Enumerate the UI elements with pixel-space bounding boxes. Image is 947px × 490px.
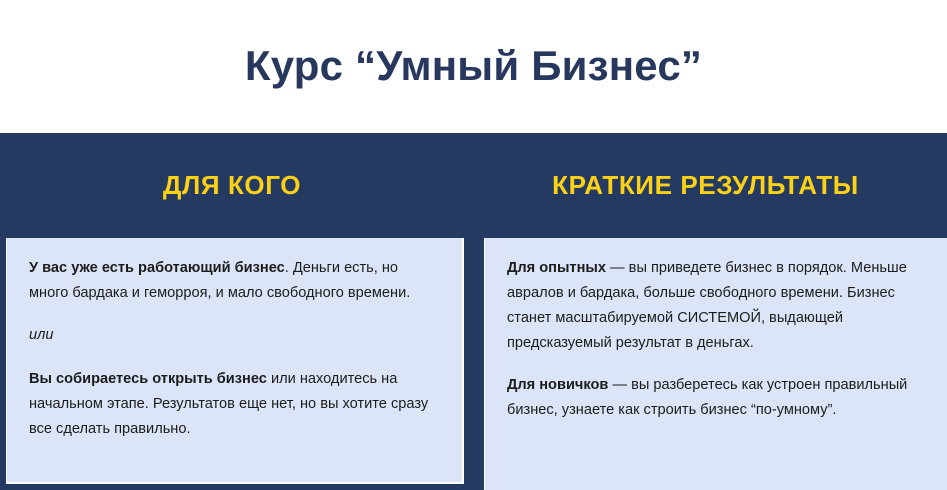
card-for-whom: У вас уже есть работающий бизнес. Деньги… [6,238,464,484]
paragraph-starting-business: Вы собираетесь открыть бизнес или находи… [29,367,438,442]
paragraph-for-experienced: Для опытных — вы приведете бизнес в поря… [507,256,923,356]
paragraph-existing-business: У вас уже есть работающий бизнес. Деньги… [29,256,438,306]
column-heading-short-results: КРАТКИЕ РЕЗУЛЬТАТЫ [464,133,947,238]
paragraph-lead: У вас уже есть работающий бизнес [29,260,285,276]
card-short-results: Для опытных — вы приведете бизнес в поря… [484,238,947,490]
column-headings-row: ДЛЯ КОГО КРАТКИЕ РЕЗУЛЬТАТЫ [0,133,947,238]
paragraph-lead: Для опытных [507,260,606,276]
paragraph-lead: Для новичков [507,377,608,393]
page-title: Курс “Умный Бизнес” [245,43,702,89]
paragraph-lead: Вы собираетесь открыть бизнес [29,371,267,387]
paragraph-for-beginners: Для новичков — вы разберетесь как устрое… [507,373,923,423]
title-band: Курс “Умный Бизнес” [0,0,947,133]
two-column-panel: ДЛЯ КОГО КРАТКИЕ РЕЗУЛЬТАТЫ У вас уже ес… [0,133,947,490]
paragraph-rest: или [29,327,53,343]
column-cards-row: У вас уже есть работающий бизнес. Деньги… [0,238,947,490]
slide-root: Курс “Умный Бизнес” ДЛЯ КОГО КРАТКИЕ РЕЗ… [0,0,947,490]
column-heading-for-whom: ДЛЯ КОГО [0,133,464,238]
paragraph-or: или [29,323,438,348]
